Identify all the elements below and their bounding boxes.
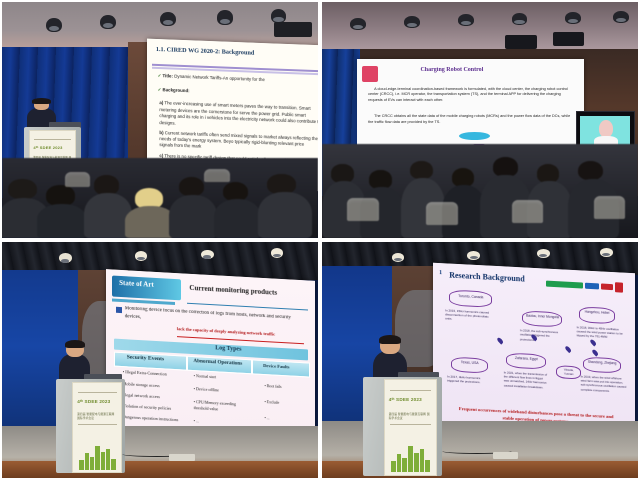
ceiling-light xyxy=(350,18,366,30)
callout-place: Yibiuda, Yunnan xyxy=(558,368,578,377)
slide-item-marker: b) xyxy=(160,130,164,135)
banner-big-text: 4ᵗʰ SDEE 2023 xyxy=(77,399,117,404)
cell-text: Mobile storage access xyxy=(123,381,160,388)
banner-big-text: 4ᵗʰ SDEE 2023 xyxy=(389,397,432,402)
section-number: 1 xyxy=(439,270,442,276)
cell-text: Normal start xyxy=(196,374,216,380)
cell-text: CPU/Memory exceeding threshold value xyxy=(194,399,236,411)
log-types-label: Log Types xyxy=(215,345,241,352)
panel-bottom-left[interactable]: State of Art Current monitoring products… xyxy=(2,242,318,478)
bullet-marker xyxy=(117,307,122,314)
slide-title: Charging Robot Control xyxy=(420,67,483,73)
callout-text: In 2018, the sub-synchronous oscillation… xyxy=(520,328,562,343)
ceiling-light xyxy=(201,250,214,260)
cell-text: Exclude xyxy=(267,400,279,405)
banner-graphic xyxy=(79,445,116,470)
cloud-icon xyxy=(459,132,490,140)
callout-place: Baotou, Inner Mongolia xyxy=(526,313,559,319)
ceiling-light xyxy=(565,12,581,24)
banner-sub-text: 第四届 智能配电与能源互联网 国际学术会议 xyxy=(77,412,117,420)
podium: 4ᵗʰ SDEE 2023 第四届 智能配电与能源互联网 国际学术会议 xyxy=(56,379,126,473)
callout-place: Zafarana, Egypt xyxy=(509,355,542,361)
logo-strip-blue xyxy=(584,282,598,289)
slide-background-label: Background: xyxy=(163,88,190,94)
slide-paragraph: The CRCC obtains all the state data of t… xyxy=(368,114,575,125)
callout-text: In 2021, when the transmission of the di… xyxy=(503,370,547,389)
callout-bubble: Texas, USA xyxy=(451,356,487,373)
callout-place: Texas, USA xyxy=(455,359,485,365)
callout-text: In 2015, 15Hz harmonics caused disconnec… xyxy=(445,308,496,324)
ceiling-light xyxy=(217,10,233,24)
cell-text: Illegal network access xyxy=(123,392,160,399)
ceiling-light xyxy=(59,253,72,263)
cell-text: Illegal Extra-Connection xyxy=(125,370,167,377)
ceiling-light xyxy=(100,15,116,29)
podium-banner: 4ᵗʰ SDEE 2023 第四届 智能配电与能源互联网 国际学术会议 xyxy=(384,379,438,475)
section-title-banner: State of Art xyxy=(113,276,182,301)
column-header: Abnormal Operations xyxy=(194,358,243,367)
ceiling-light xyxy=(537,249,550,258)
led-wall-slide[interactable]: State of Art Current monitoring products… xyxy=(106,269,315,441)
projector xyxy=(553,32,585,46)
crrc-logo-icon xyxy=(362,66,378,83)
ceiling-light xyxy=(160,12,176,26)
callout-bubble: Hangzhou, Hebei xyxy=(578,307,614,324)
callout-bubble: Yibiuda, Yunnan xyxy=(556,365,580,380)
cell-text: ... xyxy=(196,419,199,424)
banner-sub-text: 第四届 智能配电与能源互联网 国际学术会议 xyxy=(389,412,432,420)
section-title: State of Art xyxy=(119,279,154,289)
logo-strip-red xyxy=(600,283,612,290)
ceiling-light xyxy=(458,14,474,26)
slide-paragraph: A cloud-edge-terminal coordination-based… xyxy=(368,87,575,104)
cable-box xyxy=(493,452,518,459)
cell-text: ... xyxy=(267,416,270,420)
ceiling xyxy=(322,2,638,56)
column-header: Security Events xyxy=(127,355,164,363)
panel-top-right[interactable]: Charging Robot Control A cloud-edge-term… xyxy=(322,2,638,238)
ceiling-light xyxy=(392,253,405,262)
panel-bottom-right[interactable]: 1 Research Background Toronto, Canada In… xyxy=(322,242,638,478)
callout-text: In 2018, 30Hz to 40Hz oscillation caused… xyxy=(576,325,623,340)
photo-collage: 1.1. CIRED WG 2020-2: Background ✓ Title… xyxy=(0,0,640,480)
ceiling-light xyxy=(600,248,613,257)
ceiling-light xyxy=(271,248,284,258)
callout-bubble: Toronto, Canada xyxy=(449,290,491,307)
slide-title-label: Title: xyxy=(163,73,173,78)
podium: 4ᵗʰ SDEE 2023 第四届 智能配电与能源互联网 国际学术会议 xyxy=(363,377,442,476)
panel-top-left[interactable]: 1.1. CIRED WG 2020-2: Background ✓ Title… xyxy=(2,2,318,238)
cell-text: Boot fails xyxy=(267,384,282,389)
callout-place: Shandong, Zhejiang xyxy=(586,359,617,365)
cell-text: Device offline xyxy=(196,387,219,393)
audience xyxy=(2,158,318,238)
ceiling-light xyxy=(613,11,629,23)
ceiling-light xyxy=(512,13,528,25)
stage-edge xyxy=(2,461,318,478)
podium-banner: 4ᵗʰ SDEE 2023 第四届 智能配电与能源互联网 国际学术会议 xyxy=(72,382,122,474)
ceiling-light xyxy=(467,251,480,260)
audience xyxy=(322,144,638,238)
org-logo-icon xyxy=(615,282,623,292)
callout-place: Hangzhou, Hebei xyxy=(582,310,612,316)
cable-box xyxy=(169,454,194,461)
ceiling-light xyxy=(404,16,420,28)
column-header: Device Faults xyxy=(263,363,289,369)
banner-graphic xyxy=(391,445,430,471)
banner-big-text: 4ᵗʰ SDEE 2023 xyxy=(33,145,71,150)
callout-place: Toronto, Canada xyxy=(453,293,488,300)
projector xyxy=(274,22,312,38)
projector xyxy=(505,35,537,49)
ceiling-light xyxy=(135,251,148,261)
ceiling-light xyxy=(46,18,62,32)
callout-text: In 2019, when the wind offshore wind far… xyxy=(580,374,627,393)
led-wall-slide[interactable]: 1 Research Background Toronto, Canada In… xyxy=(433,263,635,439)
